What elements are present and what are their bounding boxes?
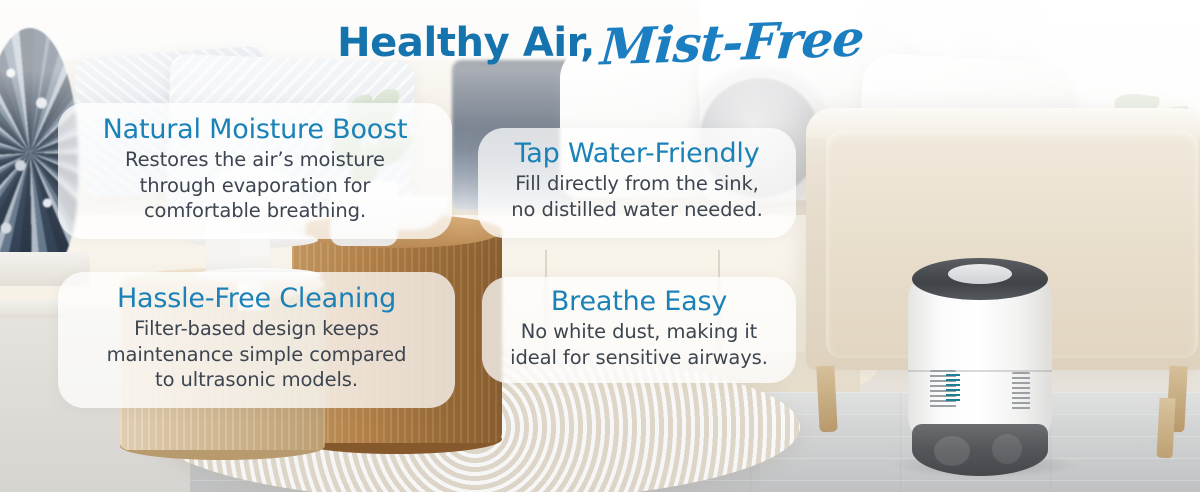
headline-main: Healthy Air, [337,20,595,66]
feature-card-heading: Natural Moisture Boost [72,115,438,145]
feature-card-tap-water-friendly: Tap Water-Friendly Fill directly from th… [478,128,796,238]
humidifier-body [908,278,1052,438]
humidifier [906,258,1054,476]
humidifier-vent-right [1012,372,1030,410]
humidifier-base-highlight [934,436,970,466]
feature-card-breathe-easy: Breathe Easy No white dust, making it id… [482,277,796,383]
feature-card-body-line: comfortable breathing. [72,198,438,223]
promo-banner: Healthy Air,Mist-Free Natural Moisture B… [0,0,1200,492]
feature-card-body-line: Filter-based design keeps [72,316,441,341]
feature-card-heading: Tap Water-Friendly [490,139,784,169]
headline-script: Mist-Free [599,13,865,72]
feature-card-body-line: No white dust, making it [494,319,784,344]
humidifier-base [912,424,1048,476]
feature-card-body-line: ideal for sensitive airways. [494,345,784,370]
feature-card-natural-moisture-boost: Natural Moisture Boost Restores the air’… [58,103,452,239]
feature-card-body-line: Restores the air’s moisture [72,147,438,172]
armchair-leg [816,366,837,433]
feature-card-heading: Breathe Easy [494,287,784,317]
feature-card-body-line: no distilled water needed. [490,197,784,222]
feature-card-body-line: maintenance simple compared [72,342,441,367]
humidifier-outlet [948,264,1012,284]
feature-card-hassle-free-cleaning: Hassle-Free Cleaning Filter-based design… [58,272,455,408]
humidifier-vent-accent [946,374,960,404]
humidifier-base-highlight [992,434,1022,464]
feature-card-body-line: to ultrasonic models. [72,367,441,392]
feature-card-heading: Hassle-Free Cleaning [72,284,441,314]
feature-card-body-line: Fill directly from the sink, [490,171,784,196]
sofa-leg [1156,398,1175,459]
feature-card-body-line: through evaporation for [72,173,438,198]
headline: Healthy Air,Mist-Free [0,18,1200,68]
